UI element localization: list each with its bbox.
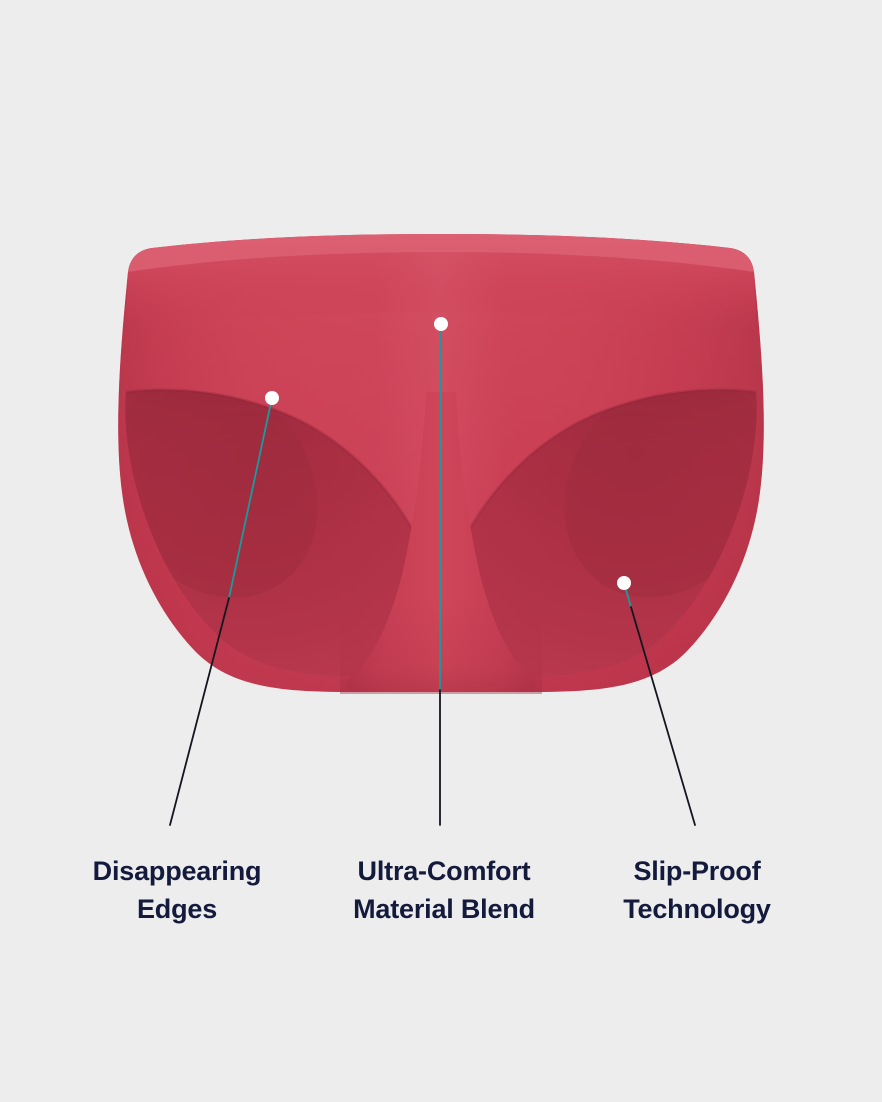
product-feature-diagram: Disappearing Edges Ultra-Comfort Materia… — [0, 0, 882, 1102]
product-illustration-canvas — [0, 0, 882, 1102]
leader-line-ultra-comfort-fabric — [440, 324, 441, 690]
callout-dot-disappearing-edges[interactable] — [265, 391, 279, 405]
callout-dot-ultra-comfort[interactable] — [434, 317, 448, 331]
callout-label-disappearing-edges: Disappearing Edges — [40, 852, 314, 929]
callout-dot-slip-proof[interactable] — [617, 576, 631, 590]
callout-label-slip-proof-technology: Slip-Proof Technology — [578, 852, 816, 929]
callout-label-ultra-comfort-material-blend: Ultra-Comfort Material Blend — [311, 852, 577, 929]
